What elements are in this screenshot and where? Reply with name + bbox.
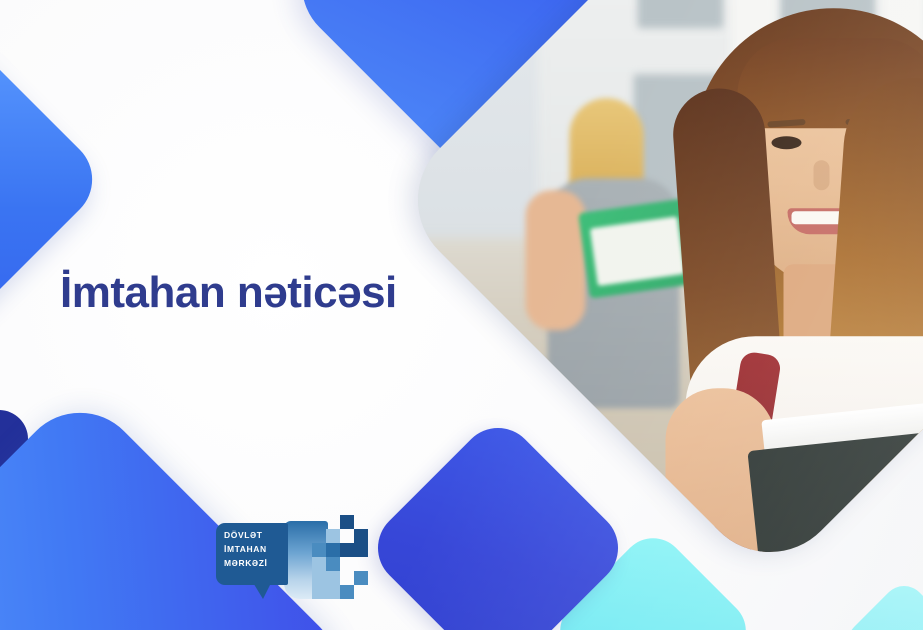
logo-pixel-square: [354, 529, 368, 543]
logo-pixel-square: [354, 543, 368, 557]
logo-line-2: İMTAHAN: [224, 543, 286, 557]
logo-pixel-grid: [312, 515, 360, 603]
logo-pixel-square: [354, 571, 368, 585]
logo-pixel-square: [326, 571, 340, 585]
dovlet-imtahan-merkezi-logo: DÖVLƏT İMTAHAN MƏRKƏZİ: [216, 515, 356, 603]
logo-pixel-square: [326, 543, 340, 557]
photo-background-student-arm: [526, 190, 586, 330]
logo-pixel-square: [340, 543, 354, 557]
logo-pixel-square: [340, 585, 354, 599]
logo-pixel-square: [326, 557, 340, 571]
logo-pixel-square: [340, 515, 354, 529]
logo-speech-bubble-tail: [252, 581, 272, 599]
logo-line-3: MƏRKƏZİ: [224, 557, 286, 571]
logo-text: DÖVLƏT İMTAHAN MƏRKƏZİ: [224, 529, 286, 570]
logo-pixel-square: [326, 585, 340, 599]
page-title: İmtahan nəticəsi: [60, 268, 397, 318]
banner-stage: İmtahan nəticəsi DÖVLƏT İMTAHAN MƏRKƏZİ: [0, 0, 923, 630]
logo-line-1: DÖVLƏT: [224, 529, 286, 543]
logo-pixel-square: [312, 585, 326, 599]
photo-girl-nose: [814, 160, 830, 190]
photo-girl-eye: [772, 136, 802, 149]
logo-pixel-square: [312, 571, 326, 585]
logo-pixel-square: [326, 529, 340, 543]
logo-pixel-square: [312, 557, 326, 571]
logo-pixel-square: [312, 543, 326, 557]
